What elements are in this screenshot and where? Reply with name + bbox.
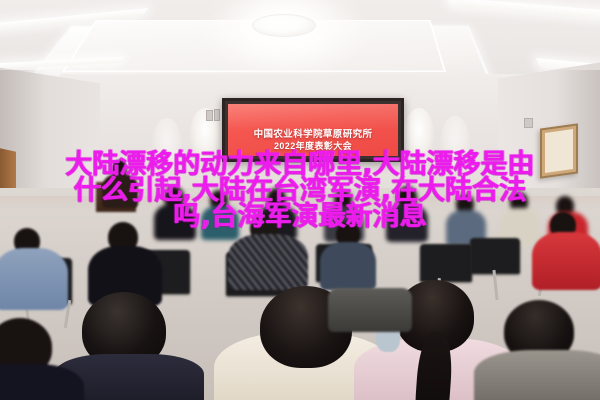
ceiling-round-light xyxy=(252,14,316,37)
screen-title-line2: 2022年度表彰大会 xyxy=(274,141,352,153)
torso xyxy=(386,204,428,242)
bag-on-chair xyxy=(328,288,412,332)
framed-picture xyxy=(540,123,578,178)
projector-screen: 中国农业科学院草原研究所 2022年度表彰大会 xyxy=(222,98,404,162)
wall-sconce-far-right xyxy=(440,116,470,170)
projector-screen-surface: 中国农业科学院草原研究所 2022年度表彰大会 xyxy=(228,104,398,156)
wall-switch-icon xyxy=(214,109,220,121)
screen-title-line1: 中国农业科学院草原研究所 xyxy=(254,129,373,141)
conference-room-scene: 中国农业科学院草原研究所 2022年度表彰大会 xyxy=(0,0,600,400)
wall-sensor-icon xyxy=(524,118,533,128)
torso xyxy=(102,174,138,208)
torso xyxy=(228,234,308,290)
wall-sconce-far-left xyxy=(152,118,182,172)
torso xyxy=(0,248,68,310)
torso xyxy=(201,206,239,240)
screenshot-root: 中国农业科学院草原研究所 2022年度表彰大会 xyxy=(0,0,600,400)
wall-sconce-right xyxy=(404,108,434,162)
chair xyxy=(420,244,472,282)
torso xyxy=(154,204,196,240)
torso xyxy=(320,242,376,290)
chair xyxy=(470,238,520,274)
torso xyxy=(532,232,600,290)
torso xyxy=(474,350,600,400)
screen-sheen xyxy=(228,104,398,130)
wall-switch-icon xyxy=(206,110,213,121)
